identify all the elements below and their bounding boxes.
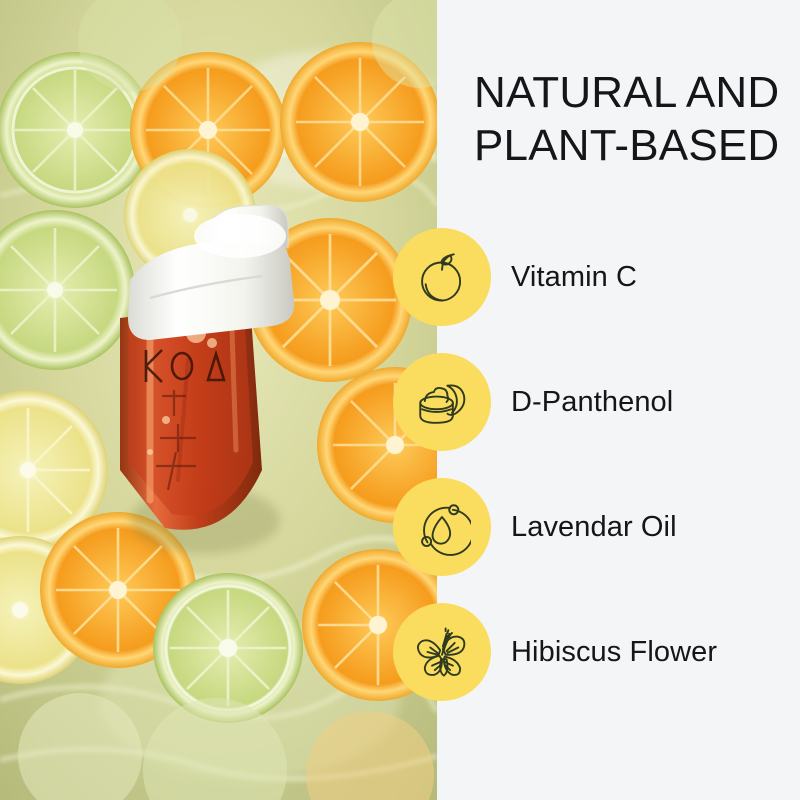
cream-jar-icon [393,353,491,451]
list-item[interactable]: Hibiscus Flower [0,603,800,701]
hibiscus-flower-icon [393,603,491,701]
promo-graphic: NATURAL AND PLANT-BASED Vitamin C [0,0,800,800]
ingredient-list: Vitamin C D-Panthenol [0,0,800,800]
ingredient-label: Hibiscus Flower [511,603,717,701]
list-item[interactable]: Lavendar Oil [0,478,800,576]
list-item[interactable]: D-Panthenol [0,353,800,451]
list-item[interactable]: Vitamin C [0,228,800,326]
ingredient-label: Vitamin C [511,228,637,326]
ingredient-label: D-Panthenol [511,353,673,451]
citrus-fruit-icon [393,228,491,326]
oil-droplet-icon [393,478,491,576]
ingredient-label: Lavendar Oil [511,478,677,576]
